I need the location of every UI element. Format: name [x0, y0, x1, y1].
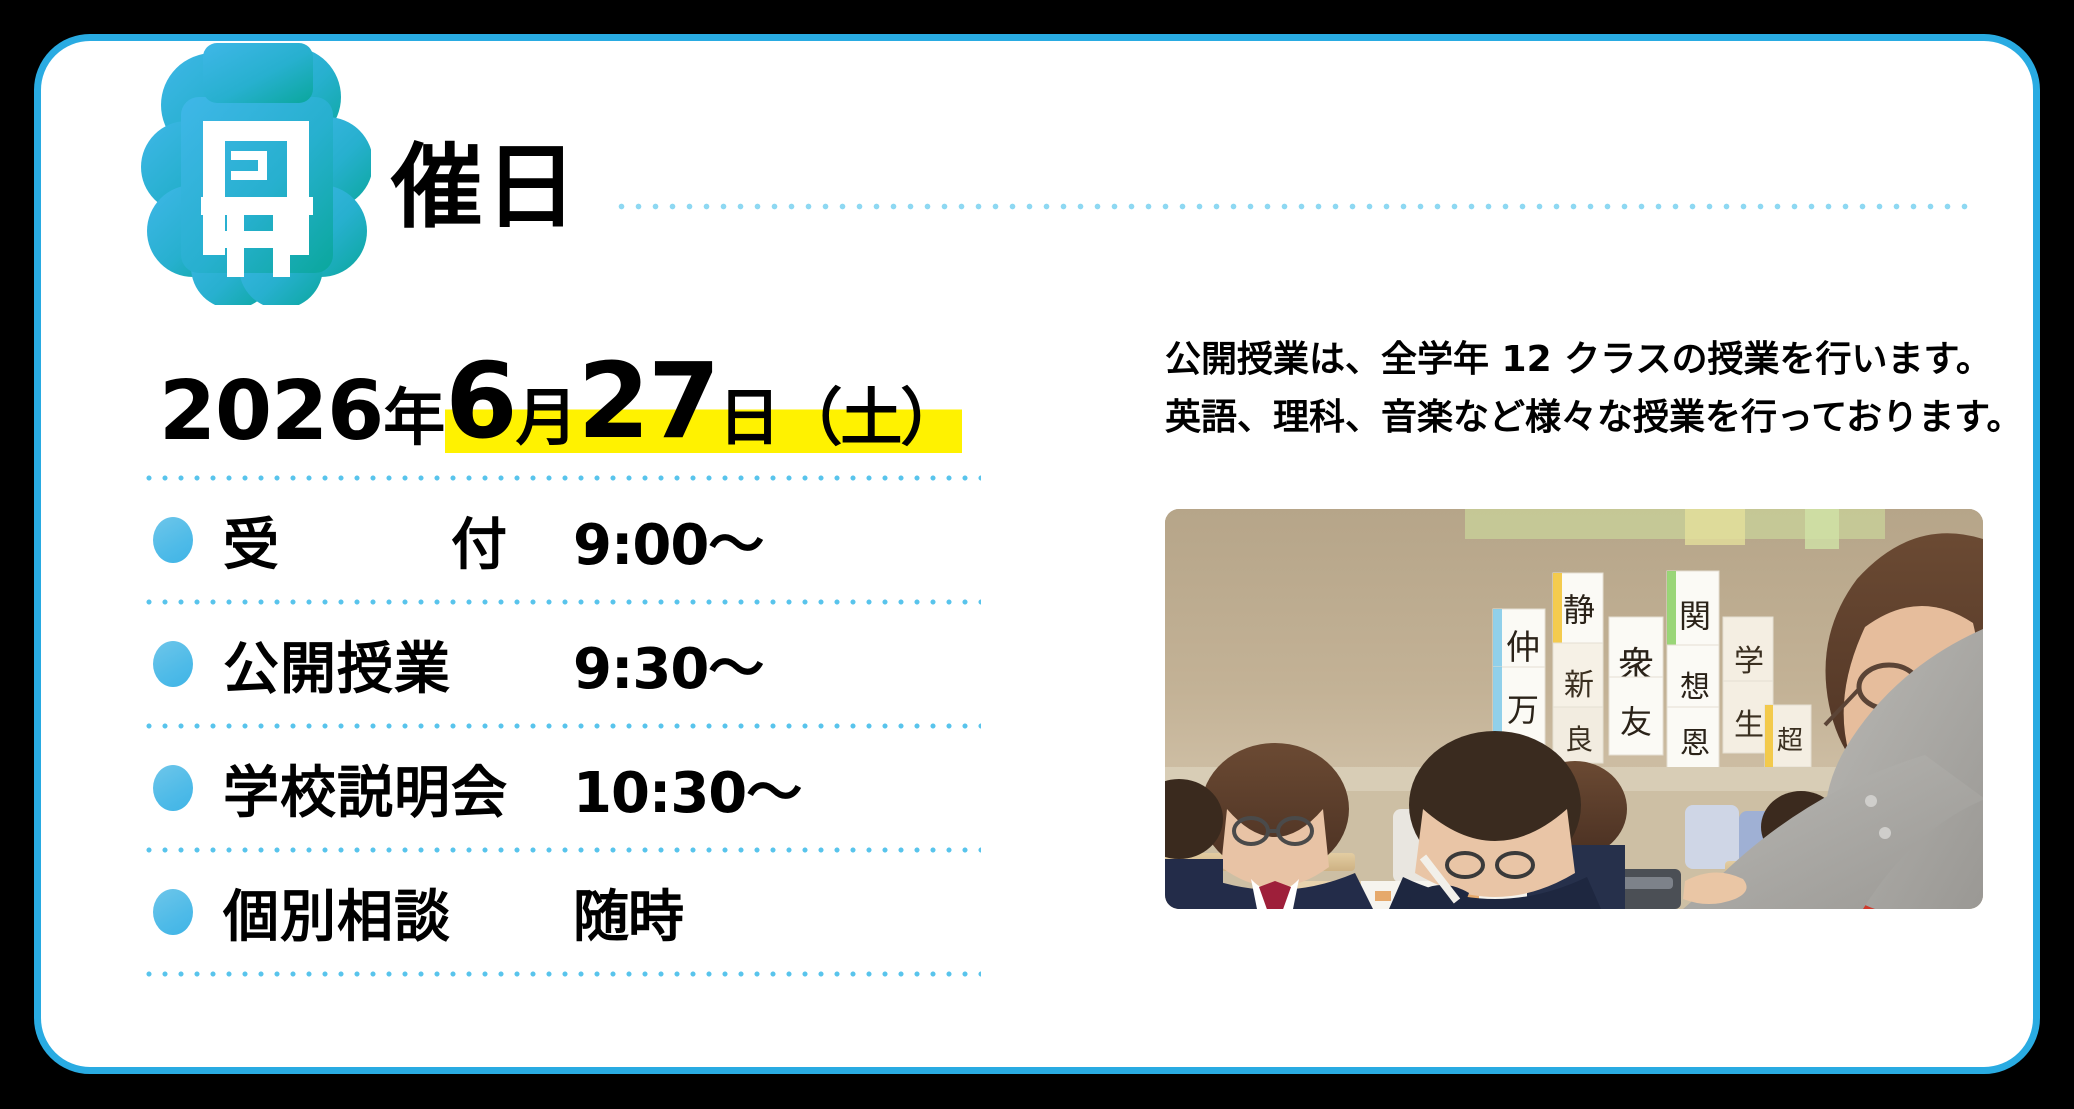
schedule-label: 公開授業 — [223, 624, 573, 705]
schedule-label: 個別相談 — [223, 872, 573, 953]
svg-text:生: 生 — [1734, 708, 1764, 743]
date-highlight: 6 月 27 日 （土） — [445, 349, 962, 453]
description-line-1: 公開授業は、全学年 12 クラスの授業を行います。 — [1165, 331, 2005, 389]
date-day-of-week: （土） — [780, 387, 960, 453]
schedule-row-individual-consultation: 個別相談 随時 — [141, 853, 981, 971]
schedule-column: 2026 年 6 月 27 日 （土） 受 付 9:00〜 公開授業 9:30〜 — [141, 341, 1021, 977]
schedule-time: 随時 — [573, 872, 683, 953]
description-block: 公開授業は、全学年 12 クラスの授業を行います。 英語、理科、音楽など様々な授… — [1165, 331, 2005, 448]
page-title-row: 催日 — [391, 133, 1973, 243]
classroom-open-lesson-photo: 仲 万 静 新 良 衆 友 関 想 — [1165, 509, 1983, 909]
bullet-icon — [153, 889, 193, 935]
bullet-icon — [153, 641, 193, 687]
page-title: 催日 — [391, 142, 579, 234]
title-dotted-divider — [613, 203, 1973, 210]
schedule-time: 10:30〜 — [573, 748, 801, 829]
schedule-separator — [141, 971, 981, 977]
date-month-unit: 月 — [516, 387, 578, 453]
bullet-icon — [153, 765, 193, 811]
svg-text:万: 万 — [1507, 691, 1539, 729]
date-day-number: 27 — [578, 349, 719, 453]
schedule-label: 学校説明会 — [223, 748, 573, 829]
schedule-table: 受 付 9:00〜 公開授業 9:30〜 学校説明会 10:30〜 個別相談 随… — [141, 475, 981, 977]
svg-text:想: 想 — [1680, 670, 1710, 705]
schedule-row-school-briefing: 学校説明会 10:30〜 — [141, 729, 981, 847]
schedule-label: 受 付 — [223, 500, 573, 581]
svg-text:関: 関 — [1679, 597, 1711, 635]
bullet-icon — [153, 517, 193, 563]
svg-text:超: 超 — [1777, 726, 1803, 756]
cloud-badge-kai-icon — [141, 35, 371, 305]
svg-text:恩: 恩 — [1680, 726, 1710, 761]
event-date: 2026 年 6 月 27 日 （土） — [159, 341, 1021, 453]
svg-text:友: 友 — [1620, 703, 1652, 741]
schedule-row-reception: 受 付 9:00〜 — [141, 481, 981, 599]
date-month-number: 6 — [445, 349, 515, 453]
description-line-2: 英語、理科、音楽など様々な授業を行っております。 — [1165, 389, 2005, 447]
event-info-card: 催日 2026 年 6 月 27 日 （土） 受 付 9:00〜 — [34, 34, 2040, 1074]
date-day-unit: 日 — [718, 387, 780, 453]
svg-text:仲: 仲 — [1506, 628, 1540, 668]
svg-text:学: 学 — [1734, 644, 1764, 679]
svg-text:良: 良 — [1565, 723, 1593, 756]
svg-text:新: 新 — [1564, 668, 1594, 703]
schedule-time: 9:00〜 — [573, 500, 763, 581]
schedule-row-open-lesson: 公開授業 9:30〜 — [141, 605, 981, 723]
date-year-unit: 年 — [383, 387, 445, 453]
svg-text:静: 静 — [1563, 591, 1595, 629]
date-year-number: 2026 — [159, 371, 383, 453]
schedule-time: 9:30〜 — [573, 624, 763, 705]
